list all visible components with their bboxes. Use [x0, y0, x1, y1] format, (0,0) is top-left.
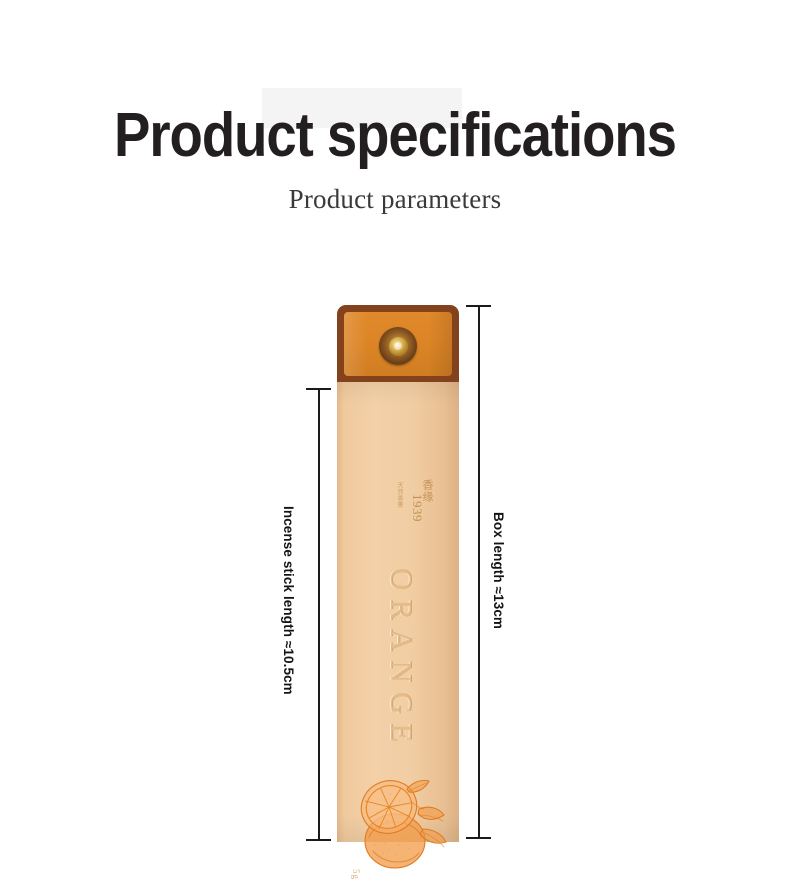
box-length-line — [478, 306, 480, 838]
package-body: 香缘 天然香薰 1939 ORANGE — [337, 382, 459, 842]
package-cap — [337, 305, 459, 384]
package-weight-label: 5g — [351, 869, 361, 880]
incense-box-package: 香缘 天然香薰 1939 ORANGE — [337, 305, 459, 842]
incense-length-tick-bottom — [306, 839, 331, 841]
brand-subtitle-chinese: 天然香薰 — [391, 482, 403, 546]
orange-fruit-illustration-icon — [349, 765, 453, 875]
product-wordmark: ORANGE — [381, 568, 421, 768]
metal-grommet-icon — [379, 327, 417, 365]
box-length-tick-bottom — [466, 837, 491, 839]
incense-length-label: Incense stick length ≈10.5cm — [281, 506, 296, 695]
incense-length-line — [318, 389, 320, 840]
brand-year: 1939 — [409, 494, 425, 522]
product-diagram: 香缘 天然香薰 1939 ORANGE — [0, 0, 790, 892]
box-length-label: Box length ≈13cm — [491, 512, 506, 629]
